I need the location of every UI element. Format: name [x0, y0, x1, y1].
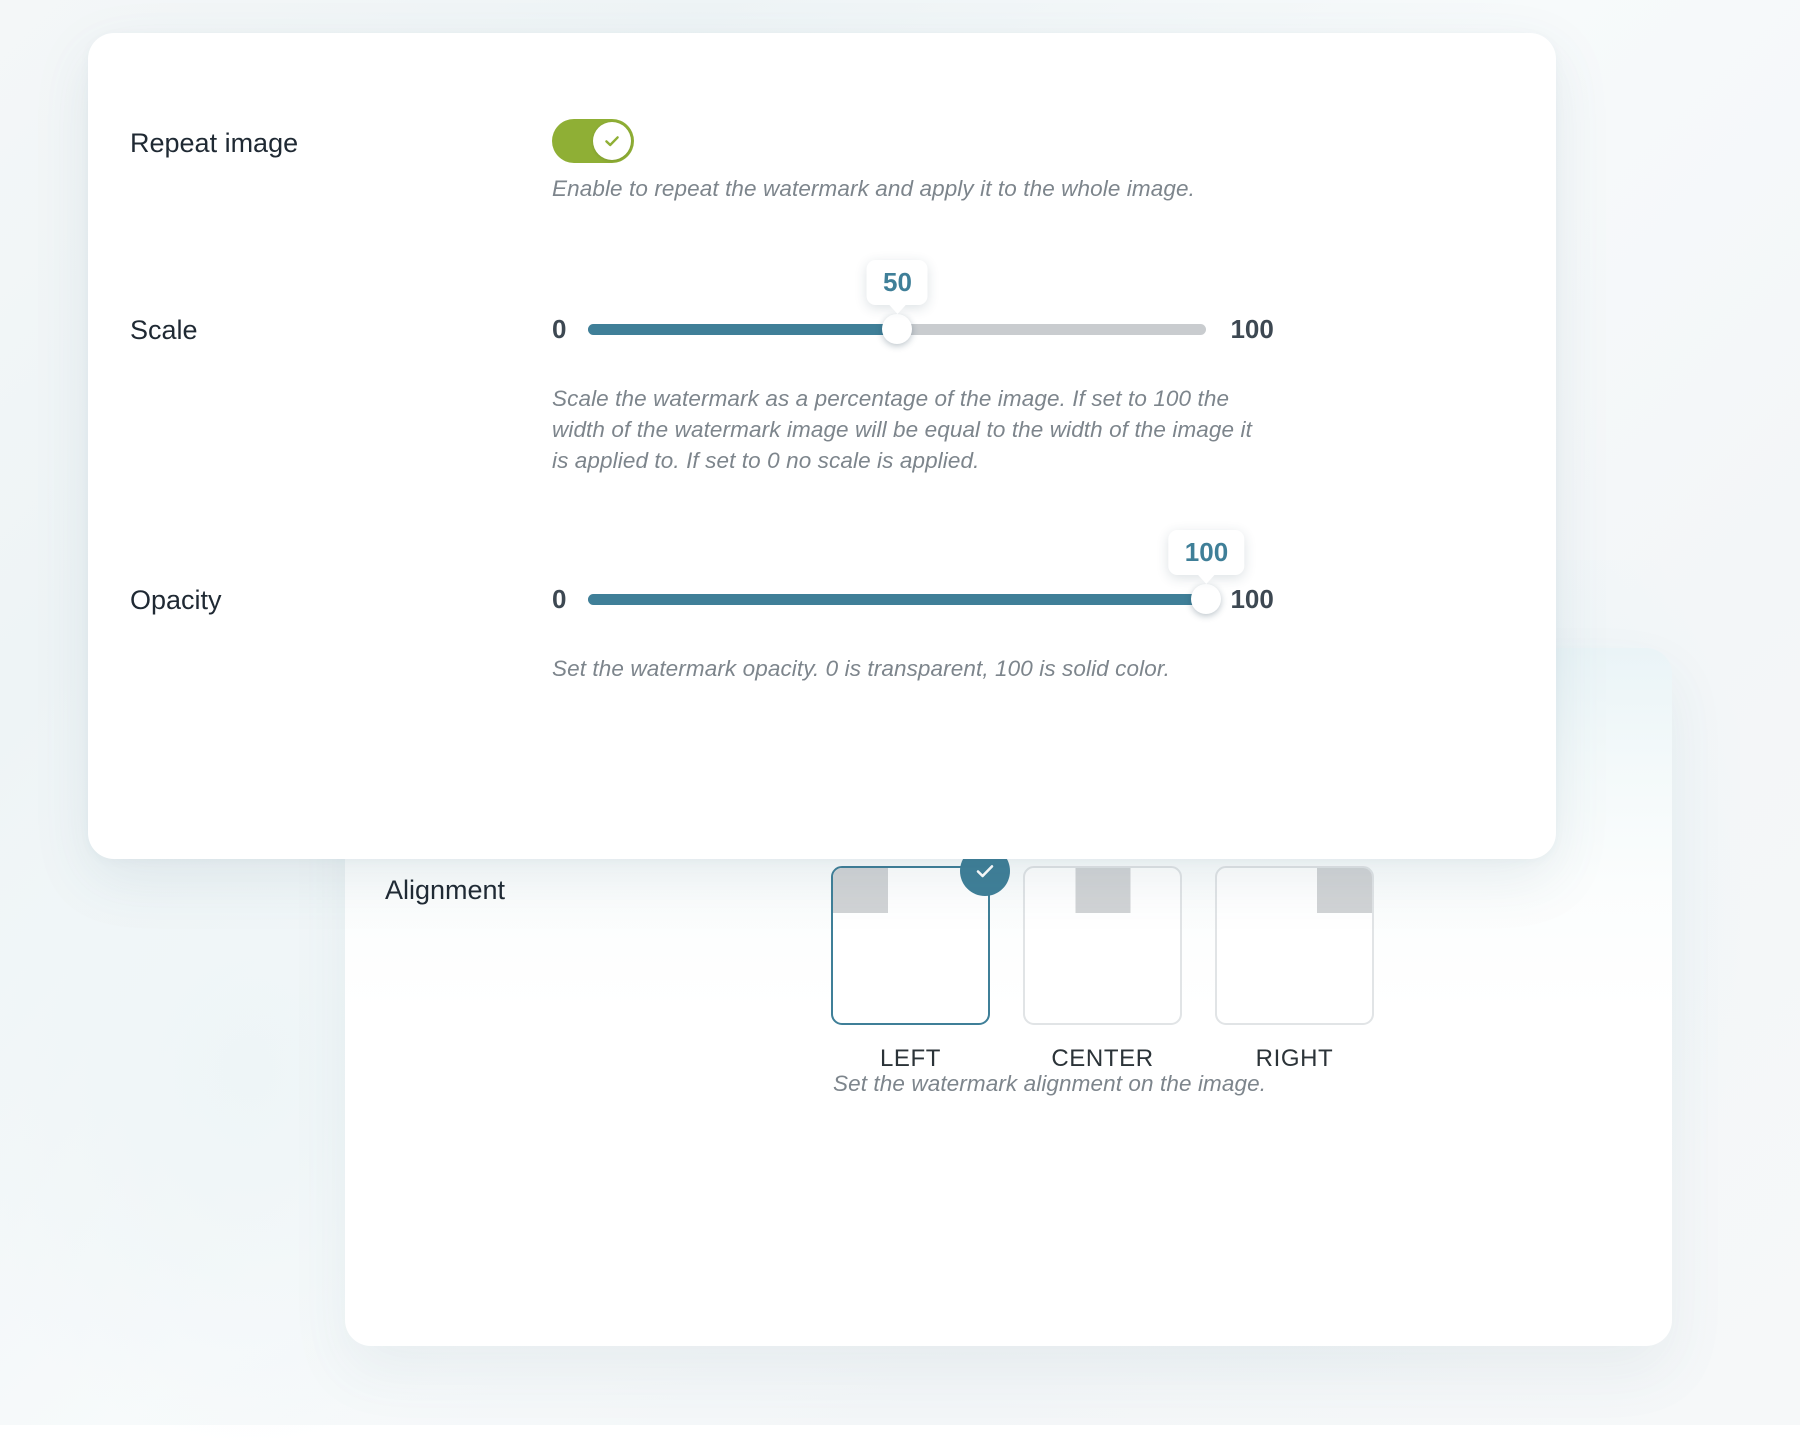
scale-slider-track[interactable]: 50: [588, 324, 1206, 335]
alignment-hint: Set the watermark alignment on the image…: [833, 1068, 1533, 1099]
scale-hint: Scale the watermark as a percentage of t…: [552, 383, 1264, 476]
repeat-image-toggle[interactable]: [552, 119, 634, 163]
opacity-slider-thumb[interactable]: [1191, 584, 1221, 614]
scale-slider-fill: [588, 324, 897, 335]
scale-slider[interactable]: 0 50 100: [552, 316, 1274, 342]
opacity-value-bubble: 100: [1169, 530, 1244, 575]
opacity-max-label: 100: [1230, 586, 1273, 612]
alignment-option-left[interactable]: LEFT: [833, 866, 988, 1071]
alignment-option-right[interactable]: RIGHT: [1217, 866, 1372, 1071]
alignment-options: LEFT CENTER RIGHT: [833, 866, 1372, 1071]
opacity-slider-fill: [588, 594, 1206, 605]
opacity-hint: Set the watermark opacity. 0 is transpar…: [552, 653, 1252, 684]
opacity-label: Opacity: [130, 587, 222, 614]
alignment-option-center[interactable]: CENTER: [1025, 866, 1180, 1071]
alignment-label: Alignment: [385, 877, 505, 904]
repeat-image-label: Repeat image: [130, 130, 298, 157]
watermark-block-icon: [1075, 868, 1130, 913]
scale-label: Scale: [130, 317, 198, 344]
alignment-preview-left[interactable]: [831, 866, 990, 1025]
scale-slider-thumb[interactable]: [882, 314, 912, 344]
scale-max-label: 100: [1230, 316, 1273, 342]
repeat-image-hint: Enable to repeat the watermark and apply…: [552, 173, 1252, 204]
alignment-preview-right[interactable]: [1215, 866, 1374, 1025]
alignment-preview-canvas: [1217, 868, 1372, 1023]
watermark-block-icon: [833, 868, 888, 913]
alignment-preview-center[interactable]: [1023, 866, 1182, 1025]
alignment-preview-canvas: [1025, 868, 1180, 1023]
scale-min-label: 0: [552, 316, 566, 342]
opacity-slider-track[interactable]: 100: [588, 594, 1206, 605]
opacity-slider[interactable]: 0 100 100: [552, 586, 1274, 612]
watermark-block-icon: [1317, 868, 1372, 913]
opacity-min-label: 0: [552, 586, 566, 612]
toggle-knob: [593, 122, 631, 160]
scale-value-bubble: 50: [867, 260, 928, 305]
alignment-preview-canvas: [833, 868, 988, 1023]
